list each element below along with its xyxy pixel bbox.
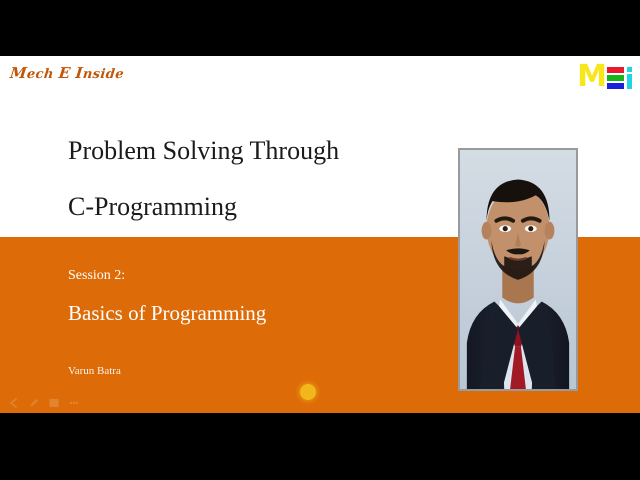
session-label: Session 2: [68,267,125,285]
presentation-video-frame: Problem Solving Through C-Programming Se… [0,0,640,480]
mei-logo-i-stem [627,74,632,89]
presenter-name: Varun Batra [68,364,121,378]
presentation-control-bar[interactable] [8,397,80,409]
mei-logo-bar-red [607,67,624,73]
slide-title-line-2: C-Programming [68,192,237,222]
brand-wordmark-cap-m: M [9,64,28,82]
brand-wordmark-mech-e-inside: Mech E Inside [9,64,125,82]
presenter-portrait-photo [458,148,578,391]
ellipsis-icon[interactable] [68,397,80,409]
mei-logo-letter-e [607,67,624,89]
pen-icon[interactable] [28,397,40,409]
mei-logo-letter-m: M [577,62,606,92]
mei-logo-bar-green [607,75,624,81]
arrow-left-icon[interactable] [8,397,20,409]
slide-title-line-1: Problem Solving Through [68,136,339,166]
laser-pointer-dot [300,384,316,400]
portrait-illustration [460,150,576,389]
slide-canvas[interactable]: Problem Solving Through C-Programming Se… [0,56,640,413]
session-topic: Basics of Programming [68,300,266,326]
grid-icon[interactable] [48,397,60,409]
mei-logo: M [577,60,632,94]
mei-logo-letter-i [627,67,632,89]
mei-logo-i-dot [627,67,632,72]
mei-logo-bar-blue [607,83,624,89]
brand-wordmark-nside: nside [82,67,125,82]
brand-wordmark-ech: ech [26,67,59,82]
